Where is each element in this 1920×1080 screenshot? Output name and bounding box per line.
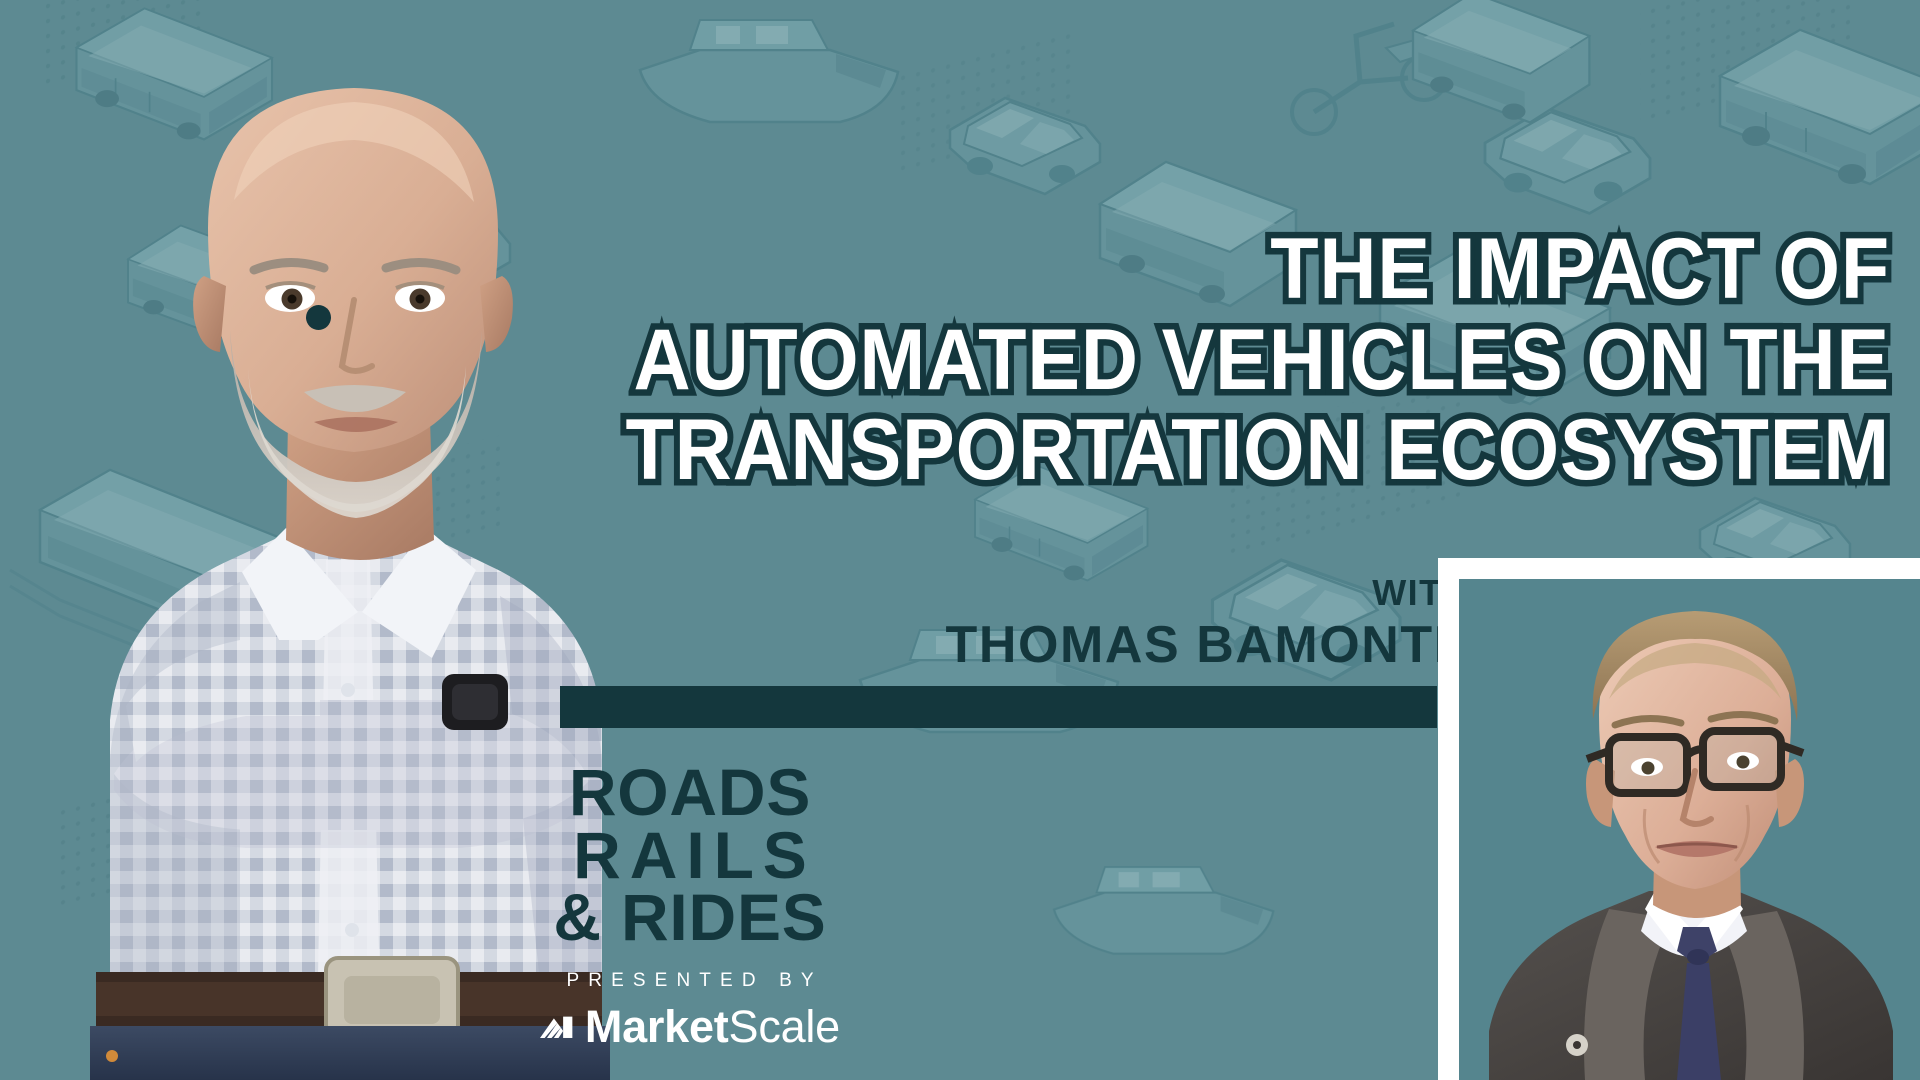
title-line-2: AUTOMATED VEHICLES ON THE bbox=[584, 319, 1890, 402]
show-logo-line-2: RAILS bbox=[540, 825, 840, 886]
title-line-3: TRANSPORTATION ECOSYSTEM bbox=[584, 409, 1890, 492]
sponsor-bold: Market bbox=[585, 1001, 729, 1052]
marketscale-wordmark: MarketScale bbox=[585, 1004, 840, 1049]
presented-by-label: PRESENTED BY bbox=[540, 970, 840, 992]
page-title: THE IMPACT OF AUTOMATED VEHICLES ON THE … bbox=[470, 228, 1890, 492]
show-logo: ROADS RAILS & RIDES PRESENTED BY MarketS… bbox=[540, 762, 840, 1049]
sponsor-light: Scale bbox=[729, 1001, 840, 1052]
guest-video-frame[interactable] bbox=[1438, 558, 1920, 1080]
with-label: WITH bbox=[946, 575, 1470, 611]
lapel-mic-icon bbox=[306, 305, 331, 330]
marketscale-m-icon bbox=[540, 1007, 576, 1047]
marketscale-logo: MarketScale bbox=[540, 1004, 840, 1049]
title-line-1: THE IMPACT OF bbox=[584, 228, 1890, 311]
show-logo-line-3: & RIDES bbox=[540, 887, 840, 948]
title-underline-bar bbox=[560, 686, 1437, 728]
guest-video-feed[interactable] bbox=[1459, 579, 1920, 1080]
guest-name: THOMAS BAMONTE bbox=[946, 619, 1470, 671]
show-logo-line-1: ROADS bbox=[540, 762, 840, 823]
video-thumbnail-stage: THE IMPACT OF AUTOMATED VEHICLES ON THE … bbox=[0, 0, 1920, 1080]
guest-credit: WITH THOMAS BAMONTE bbox=[946, 575, 1470, 671]
